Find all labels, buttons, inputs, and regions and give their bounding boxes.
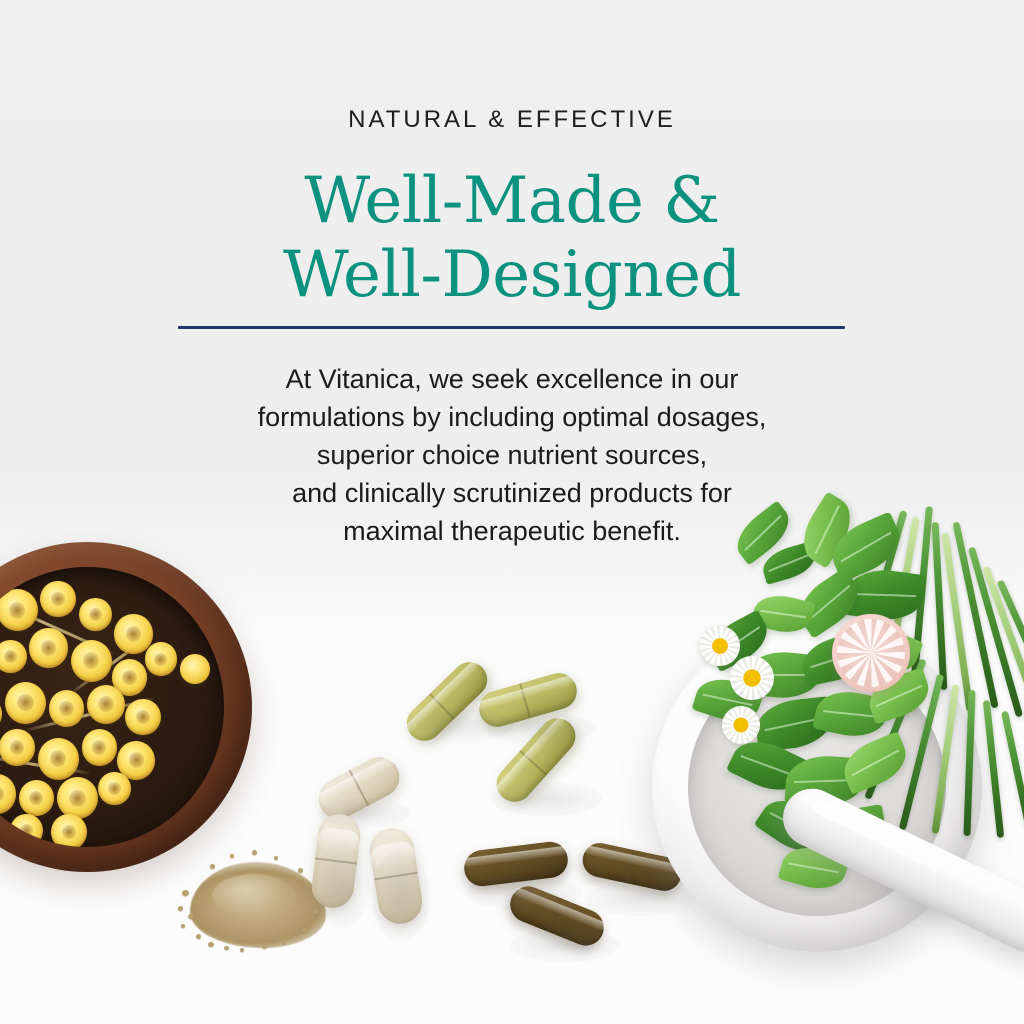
text-block: NATURAL & EFFECTIVE Well-Made & Well-Des… <box>0 0 1024 560</box>
daisy-flower-3 <box>722 706 760 744</box>
headline-line-1: Well-Made & <box>0 164 1024 238</box>
body-line-1: At Vitanica, we seek excellence in our <box>0 360 1024 398</box>
body-line-4: and clinically scrutinized products for <box>0 474 1024 512</box>
pink-flower-cluster <box>832 614 910 692</box>
body-line-2: formulations by including optimal dosage… <box>0 398 1024 436</box>
product-photo <box>0 480 1024 1024</box>
divider-rule <box>178 326 845 329</box>
eyebrow-text: NATURAL & EFFECTIVE <box>0 106 1024 134</box>
chamomile-escapee <box>180 654 210 684</box>
headline-line-2: Well-Designed <box>0 238 1024 312</box>
body-line-5: maximal therapeutic benefit. <box>0 512 1024 550</box>
body-paragraph: At Vitanica, we seek excellence in our f… <box>0 360 1024 550</box>
body-line-3: superior choice nutrient sources, <box>0 436 1024 474</box>
page-title: Well-Made & Well-Designed <box>0 164 1024 312</box>
daisy-flower-1 <box>700 626 740 666</box>
promo-canvas: NATURAL & EFFECTIVE Well-Made & Well-Des… <box>0 0 1024 1024</box>
chamomile-bowl <box>0 542 252 872</box>
powder-mound <box>190 862 326 948</box>
mortar-and-pestle <box>636 504 1024 1024</box>
daisy-flower-2 <box>730 656 774 700</box>
